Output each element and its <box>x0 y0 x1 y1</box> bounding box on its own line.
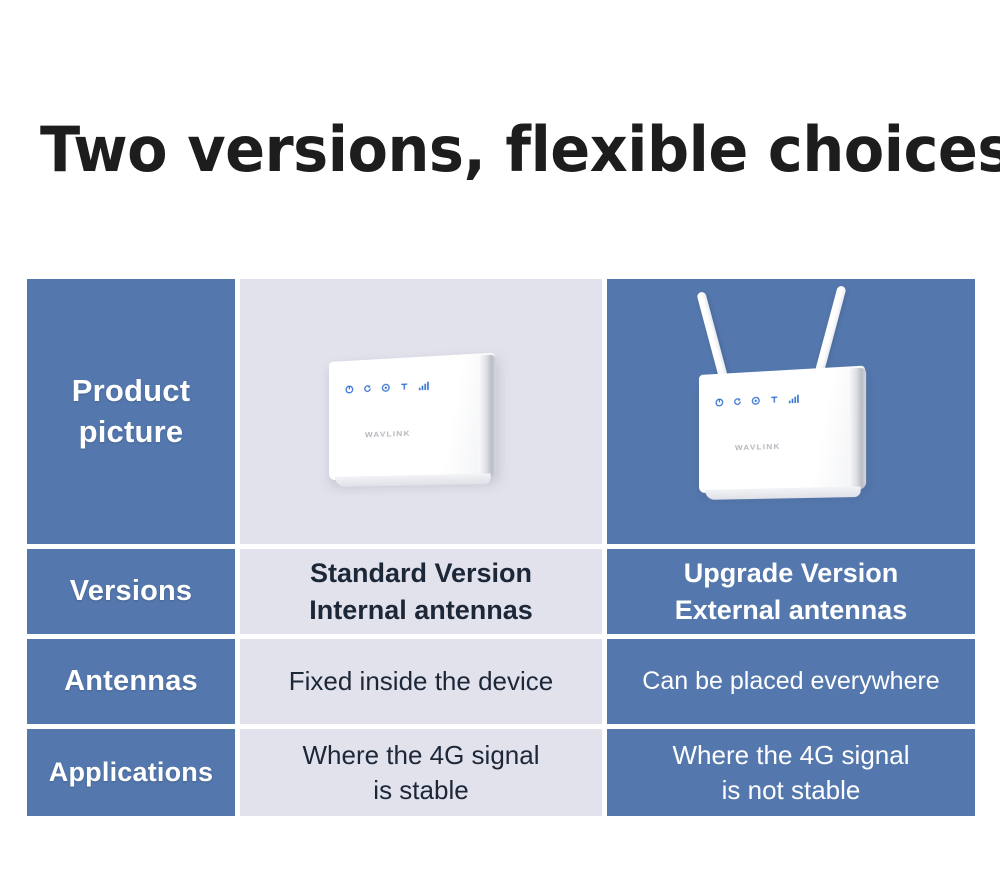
upgrade-applications-value: Where the 4G signal is not stable <box>607 729 975 816</box>
standard-antennas-value: Fixed inside the device <box>240 639 602 724</box>
row-label-product-picture: Product picture <box>27 279 235 544</box>
router-side-panel <box>849 368 866 490</box>
standard-router: WAVLINK <box>321 342 521 492</box>
signal-bars-icon <box>418 381 430 391</box>
antenna-icon <box>770 395 779 405</box>
comparison-table: Product picture <box>27 279 973 813</box>
router-side-panel <box>479 354 496 476</box>
reset-icon <box>363 384 372 394</box>
led-indicator-row <box>345 381 430 394</box>
power-icon <box>345 385 354 394</box>
value-line1: Standard Version <box>309 555 533 591</box>
reset-icon <box>733 397 742 407</box>
standard-product-image-cell: WAVLINK <box>240 279 602 544</box>
standard-versions-value: Standard Version Internal antennas <box>240 549 602 634</box>
power-icon <box>715 398 724 407</box>
router-base <box>335 473 491 486</box>
brand-wordmark: WAVLINK <box>735 443 781 453</box>
upgrade-router-stage: WAVLINK <box>607 279 975 544</box>
wifi-icon <box>381 383 390 393</box>
upgrade-product-image-cell: WAVLINK <box>607 279 975 544</box>
upgrade-versions-value: Upgrade Version External antennas <box>607 549 975 634</box>
standard-applications-value: Where the 4G signal is stable <box>240 729 602 816</box>
upgrade-router: WAVLINK <box>691 355 891 505</box>
value-line1: Upgrade Version <box>675 555 908 591</box>
standard-router-stage: WAVLINK <box>240 279 602 544</box>
router-body: WAVLINK <box>329 352 495 479</box>
value-line2: is stable <box>302 773 539 808</box>
led-indicator-row <box>715 394 800 407</box>
row-label-line1: Product <box>72 371 191 412</box>
row-label-antennas: Antennas <box>27 639 235 724</box>
signal-bars-icon <box>788 394 800 404</box>
row-label-versions: Versions <box>27 549 235 634</box>
router-body: WAVLINK <box>699 366 865 493</box>
page-title: Two versions, flexible choices <box>40 112 933 188</box>
router-base <box>705 487 861 500</box>
row-label-line2: picture <box>72 412 191 453</box>
value-line1: Where the 4G signal <box>302 738 539 773</box>
value-line1: Where the 4G signal <box>672 738 909 773</box>
upgrade-antennas-value: Can be placed everywhere <box>607 639 975 724</box>
brand-wordmark: WAVLINK <box>365 429 411 439</box>
wifi-icon <box>751 396 760 406</box>
external-antenna-left <box>696 291 730 386</box>
row-label-applications: Applications <box>27 729 235 816</box>
value-line2: External antennas <box>675 592 908 628</box>
value-line2: is not stable <box>672 773 909 808</box>
antenna-icon <box>400 382 409 392</box>
value-line2: Internal antennas <box>309 592 533 628</box>
